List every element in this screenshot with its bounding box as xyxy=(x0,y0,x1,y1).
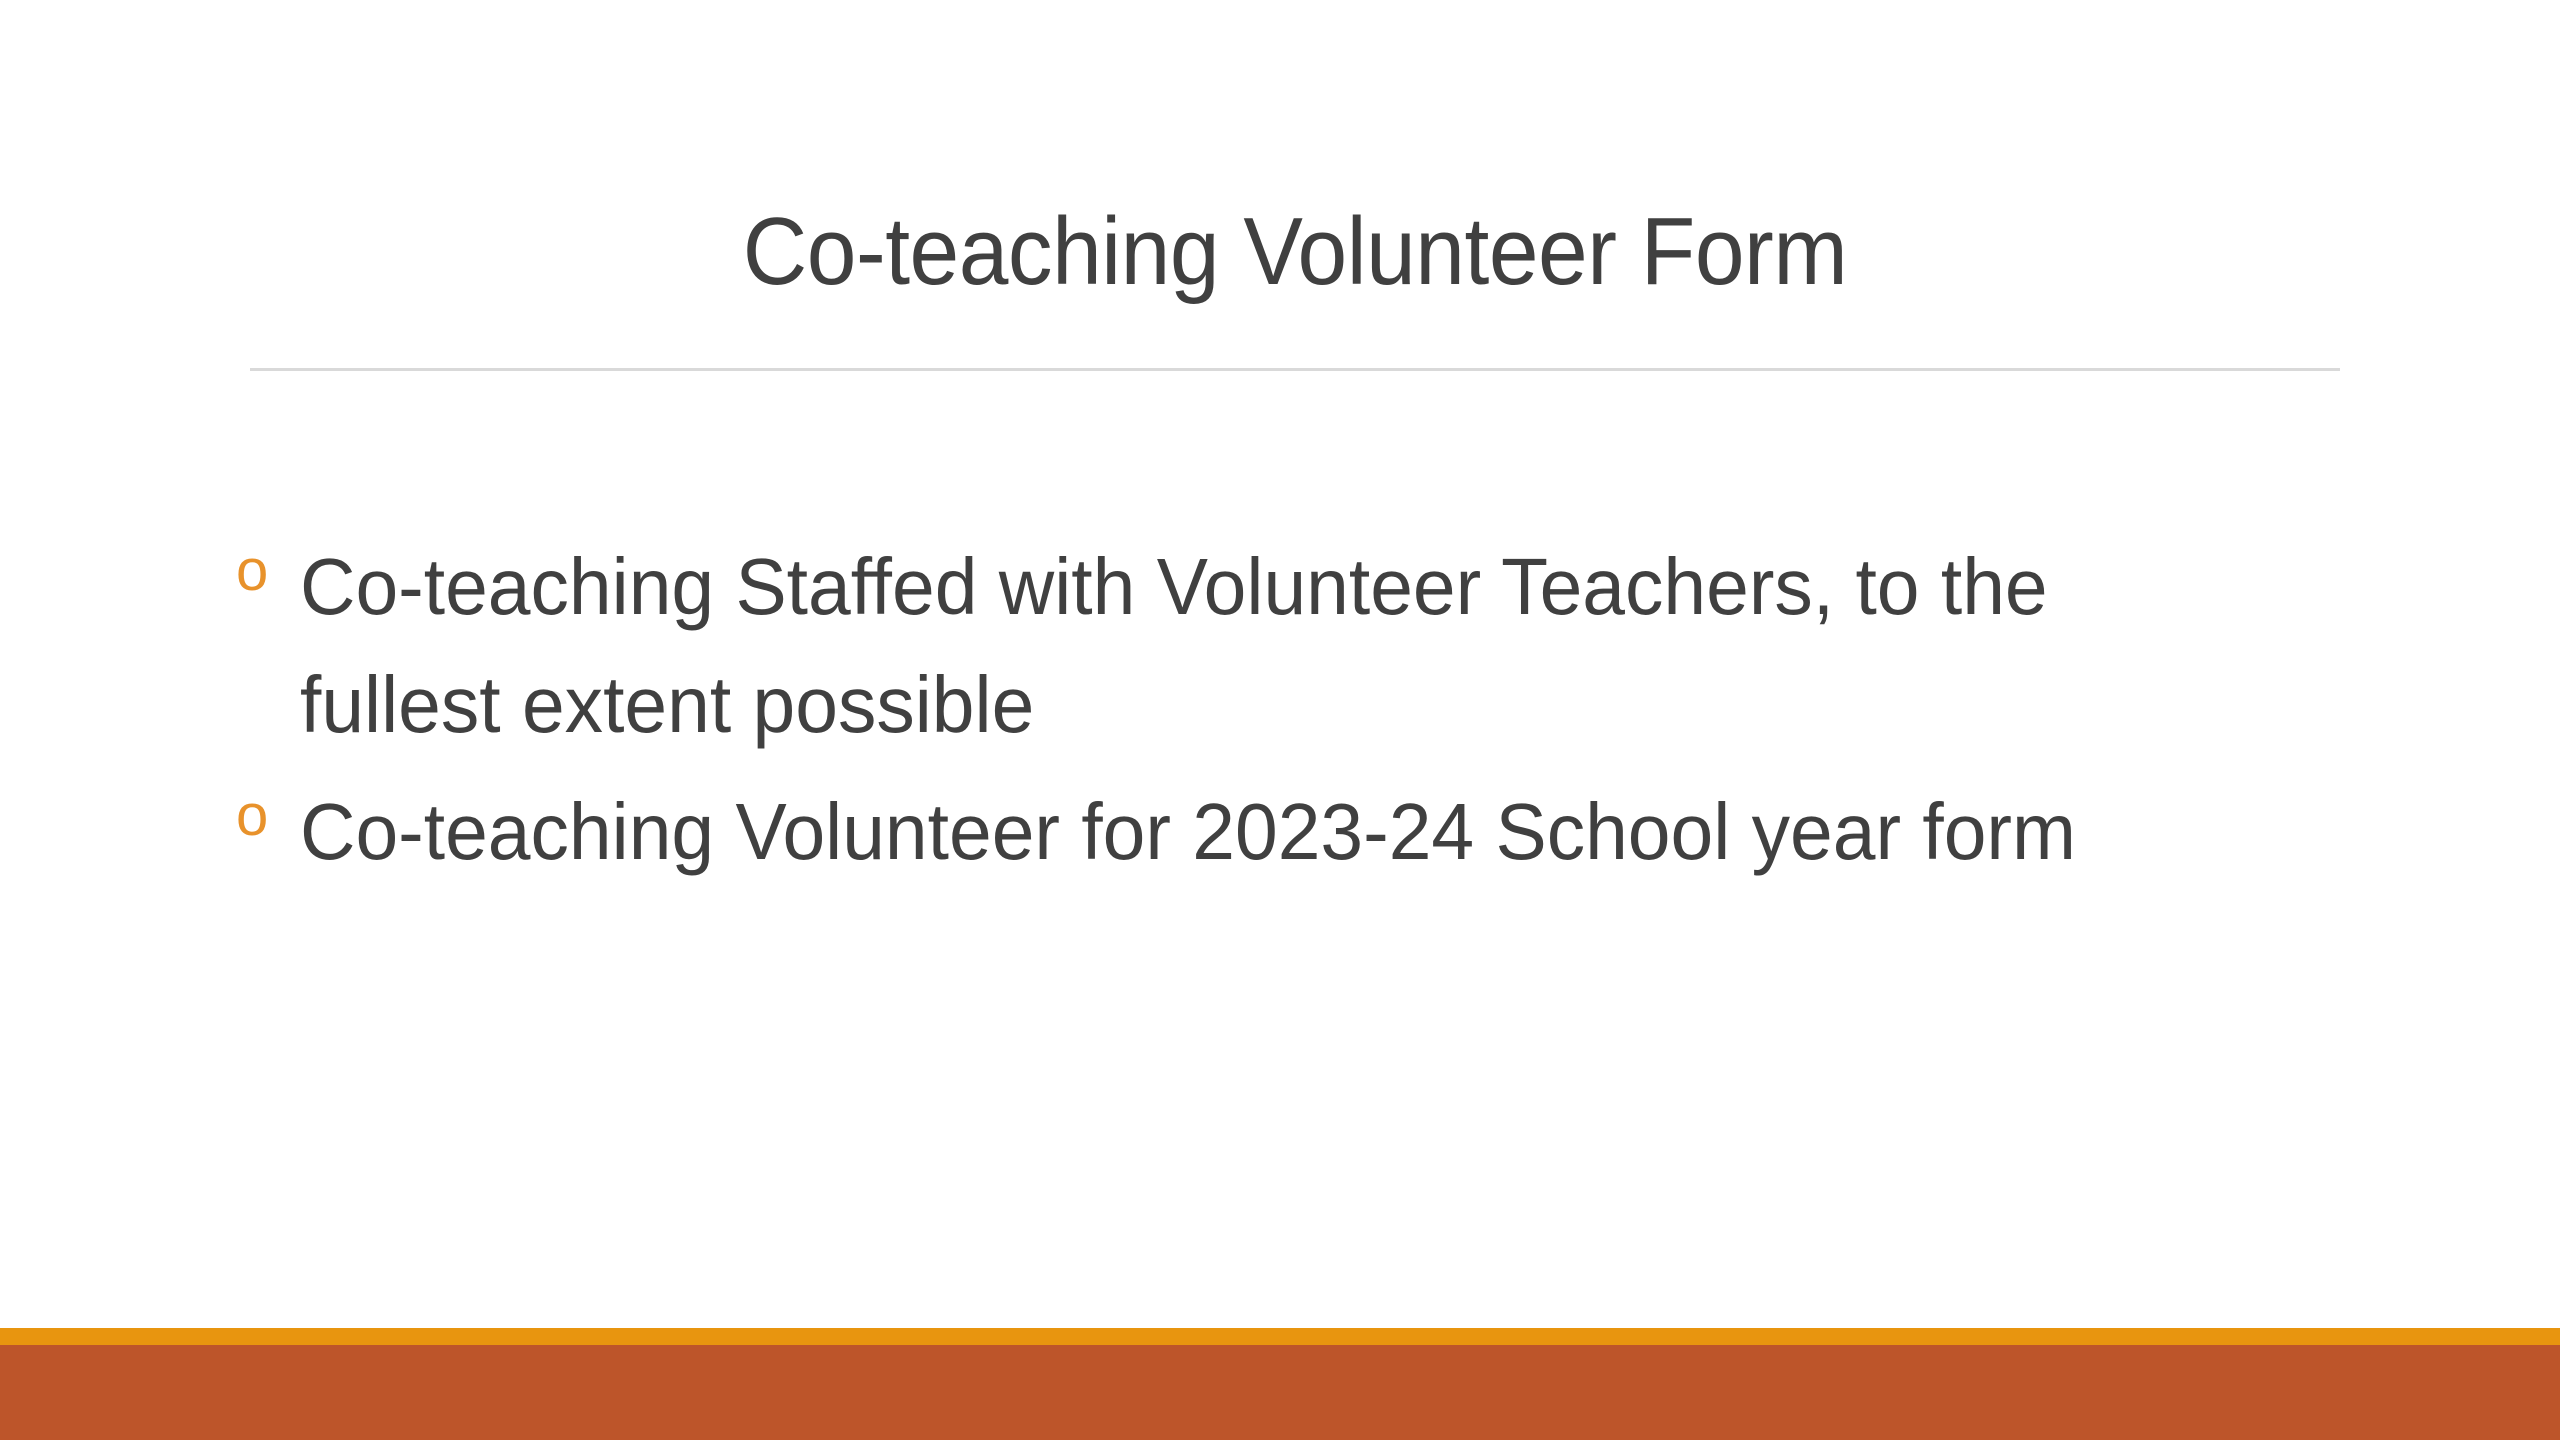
circle-bullet-icon: o xyxy=(236,528,300,614)
list-item-label: Co-teaching Volunteer for 2023-24 School… xyxy=(300,773,2129,891)
title-divider xyxy=(250,368,2340,371)
presentation-slide: Co-teaching Volunteer Form o Co-teaching… xyxy=(0,0,2560,1440)
page-title: Co-teaching Volunteer Form xyxy=(323,196,2267,307)
footer-accent-bar-dark xyxy=(0,1345,2560,1440)
slide-body-block: o Co-teaching Staffed with Volunteer Tea… xyxy=(236,528,2366,891)
list-item-label: Co-teaching Staffed with Volunteer Teach… xyxy=(300,528,2129,765)
list-item: o Co-teaching Volunteer for 2023-24 Scho… xyxy=(236,773,2366,891)
bullet-list: o Co-teaching Staffed with Volunteer Tea… xyxy=(236,528,2366,891)
footer-accent-bar-bright xyxy=(0,1328,2560,1345)
circle-bullet-icon: o xyxy=(236,773,300,859)
slide-title-block: Co-teaching Volunteer Form xyxy=(250,196,2340,307)
list-item: o Co-teaching Staffed with Volunteer Tea… xyxy=(236,528,2366,765)
